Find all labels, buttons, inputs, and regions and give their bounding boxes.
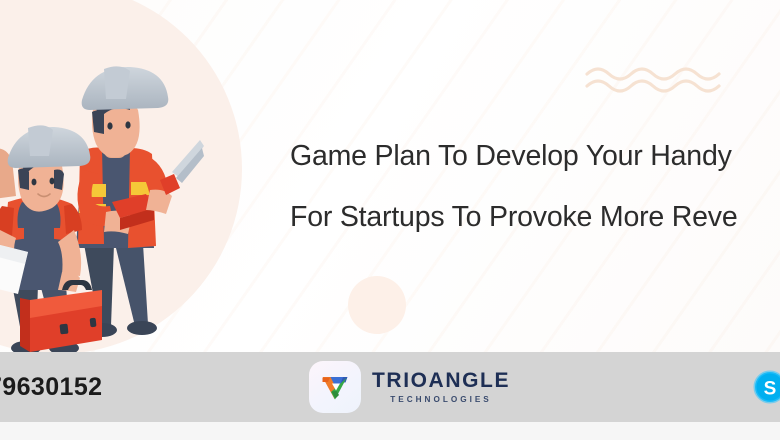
brand-lockup[interactable]: TRIOANGLE TECHNOLOGIES xyxy=(309,352,510,422)
below-footer-strip xyxy=(0,422,780,440)
headline-line-1: Game Plan To Develop Your Handy xyxy=(290,142,780,171)
wavy-line-decoration xyxy=(585,62,735,96)
svg-text:S: S xyxy=(764,379,777,400)
banner-headline: Game Plan To Develop Your Handy For Star… xyxy=(290,142,780,231)
headline-line-2: For Startups To Provoke More Reve xyxy=(290,203,780,232)
skype-icon: S xyxy=(750,367,780,407)
handyman-workers-illustration xyxy=(0,52,234,352)
brand-text: TRIOANGLE TECHNOLOGIES xyxy=(372,370,510,404)
small-peach-circle-decoration xyxy=(348,276,406,334)
hero-banner: Game Plan To Develop Your Handy For Star… xyxy=(0,0,780,352)
brand-logo-tile xyxy=(309,361,361,413)
skype-link[interactable]: S xyxy=(750,352,780,422)
footer-bar: 79630152 TRIOANGLE TECHNOLOGIES xyxy=(0,352,780,422)
brand-tagline: TECHNOLOGIES xyxy=(390,396,492,404)
phone-number[interactable]: 79630152 xyxy=(0,352,102,422)
trioangle-triangle-logo-icon xyxy=(317,370,353,404)
brand-name: TRIOANGLE xyxy=(372,370,510,391)
